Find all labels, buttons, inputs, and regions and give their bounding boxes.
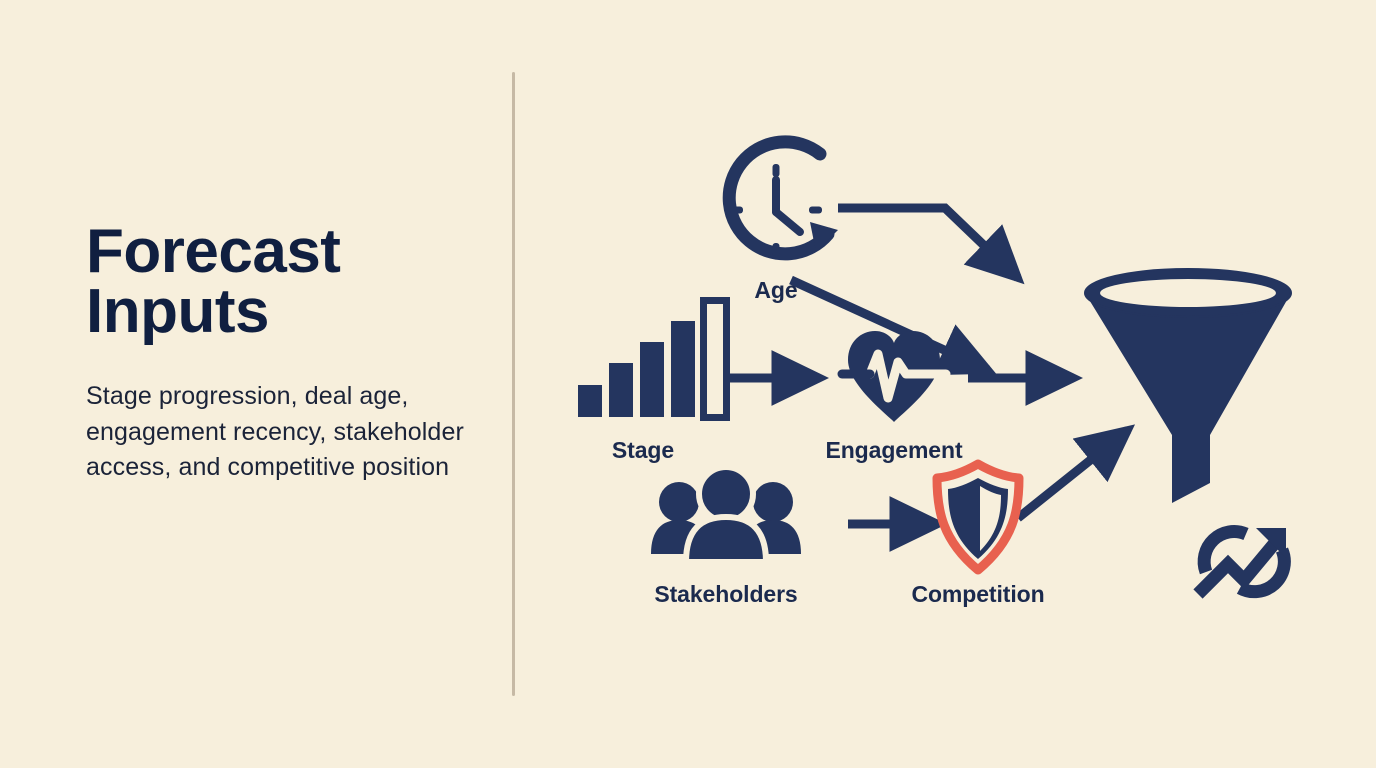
clock-icon bbox=[729, 142, 838, 256]
page-title: Forecast Inputs bbox=[86, 222, 476, 341]
page-subtitle: Stage progression, deal age, engagement … bbox=[86, 379, 468, 486]
heart-pulse-icon bbox=[842, 331, 946, 422]
trending-up-icon bbox=[1198, 528, 1286, 594]
shield-icon bbox=[937, 464, 1019, 570]
node-label-competition: Competition bbox=[911, 581, 1044, 607]
edge-competition-to-funnel bbox=[1018, 430, 1128, 518]
node-age[interactable]: Age bbox=[729, 142, 838, 303]
node-label-stakeholders: Stakeholders bbox=[654, 581, 797, 607]
node-forecast-funnel[interactable] bbox=[1085, 269, 1291, 594]
left-text-panel: Forecast Inputs Stage progression, deal … bbox=[86, 222, 476, 486]
edge-age-to-funnel-elbow bbox=[838, 208, 1018, 278]
forecast-inputs-diagram: Age Stage bbox=[548, 120, 1348, 640]
node-stakeholders[interactable]: Stakeholders bbox=[651, 467, 801, 607]
node-competition[interactable]: Competition bbox=[911, 464, 1044, 607]
people-group-icon bbox=[651, 467, 801, 562]
node-stage[interactable]: Stage bbox=[578, 301, 727, 464]
slide-root: Forecast Inputs Stage progression, deal … bbox=[0, 0, 1376, 768]
node-label-engagement: Engagement bbox=[825, 437, 962, 463]
node-label-age: Age bbox=[754, 277, 797, 303]
vertical-divider bbox=[512, 72, 515, 696]
funnel-icon bbox=[1085, 269, 1291, 503]
node-label-stage: Stage bbox=[612, 437, 674, 463]
bar-chart-icon bbox=[578, 301, 727, 418]
